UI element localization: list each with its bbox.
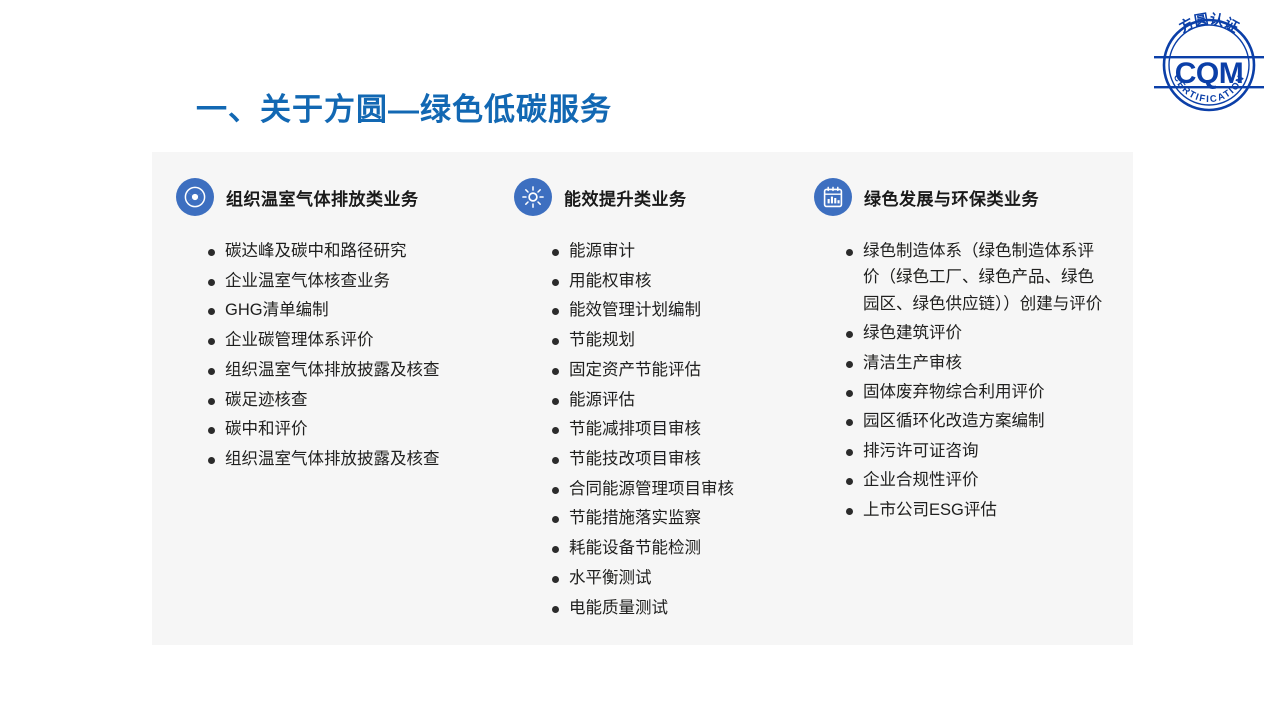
list-item: 企业温室气体核查业务 bbox=[208, 268, 500, 295]
list-item: 电能质量测试 bbox=[552, 595, 800, 622]
service-columns: 组织温室气体排放类业务 碳达峰及碳中和路径研究 企业温室气体核查业务 GHG清单… bbox=[152, 152, 1133, 645]
cqm-logo: 方圆认证 CERTIFICATION CQM bbox=[1150, 6, 1268, 124]
column-header-2: 能效提升类业务 bbox=[514, 178, 800, 216]
list-item: 合同能源管理项目审核 bbox=[552, 476, 800, 503]
slide-root: 方圆认证 CERTIFICATION CQM 一、关于方圆—绿色低碳服务 bbox=[0, 0, 1280, 720]
list-item: 节能规划 bbox=[552, 327, 800, 354]
list-item: 能源审计 bbox=[552, 238, 800, 265]
list-item: 水平衡测试 bbox=[552, 565, 800, 592]
page-title: 一、关于方圆—绿色低碳服务 bbox=[196, 92, 612, 128]
column-title-1: 组织温室气体排放类业务 bbox=[226, 185, 419, 210]
list-item: 绿色制造体系（绿色制造体系评价（绿色工厂、绿色产品、绿色园区、绿色供应链））创建… bbox=[846, 238, 1108, 317]
list-item: 碳中和评价 bbox=[208, 416, 500, 443]
list-item: 碳足迹核查 bbox=[208, 387, 500, 414]
list-item: 园区循环化改造方案编制 bbox=[846, 408, 1108, 434]
service-column-energy-efficiency: 能效提升类业务 能源审计 用能权审核 能效管理计划编制 节能规划 固定资产节能评… bbox=[500, 178, 800, 645]
list-item: 碳达峰及碳中和路径研究 bbox=[208, 238, 500, 265]
column-header-3: 绿色发展与环保类业务 bbox=[814, 178, 1133, 216]
list-item: 企业碳管理体系评价 bbox=[208, 327, 500, 354]
list-item: 绿色建筑评价 bbox=[846, 320, 1108, 346]
service-column-greenhouse-gas: 组织温室气体排放类业务 碳达峰及碳中和路径研究 企业温室气体核查业务 GHG清单… bbox=[152, 178, 500, 645]
list-item: 能效管理计划编制 bbox=[552, 297, 800, 324]
list-item: 固体废弃物综合利用评价 bbox=[846, 379, 1108, 405]
list-item: 排污许可证咨询 bbox=[846, 438, 1108, 464]
list-item: 用能权审核 bbox=[552, 268, 800, 295]
list-item: 能源评估 bbox=[552, 387, 800, 414]
list-item: 耗能设备节能检测 bbox=[552, 535, 800, 562]
sun-icon bbox=[514, 178, 552, 216]
list-item: 节能技改项目审核 bbox=[552, 446, 800, 473]
column-title-2: 能效提升类业务 bbox=[564, 185, 687, 210]
column-title-3: 绿色发展与环保类业务 bbox=[864, 185, 1039, 210]
content-panel: 组织温室气体排放类业务 碳达峰及碳中和路径研究 企业温室气体核查业务 GHG清单… bbox=[152, 152, 1133, 645]
list-item: GHG清单编制 bbox=[208, 297, 500, 324]
list-item: 企业合规性评价 bbox=[846, 467, 1108, 493]
list-item: 节能措施落实监察 bbox=[552, 505, 800, 532]
column-header-1: 组织温室气体排放类业务 bbox=[176, 178, 500, 216]
calendar-chart-icon bbox=[814, 178, 852, 216]
aperture-icon bbox=[176, 178, 214, 216]
service-list-2: 能源审计 用能权审核 能效管理计划编制 节能规划 固定资产节能评估 能源评估 节… bbox=[552, 238, 800, 621]
list-item: 上市公司ESG评估 bbox=[846, 497, 1108, 523]
service-column-green-development: 绿色发展与环保类业务 绿色制造体系（绿色制造体系评价（绿色工厂、绿色产品、绿色园… bbox=[800, 178, 1133, 645]
service-list-1: 碳达峰及碳中和路径研究 企业温室气体核查业务 GHG清单编制 企业碳管理体系评价… bbox=[208, 238, 500, 473]
svg-text:方圆认证: 方圆认证 bbox=[1176, 11, 1241, 36]
list-item: 组织温室气体排放披露及核查 bbox=[208, 357, 500, 384]
list-item: 固定资产节能评估 bbox=[552, 357, 800, 384]
list-item: 组织温室气体排放披露及核查 bbox=[208, 446, 500, 473]
service-list-3: 绿色制造体系（绿色制造体系评价（绿色工厂、绿色产品、绿色园区、绿色供应链））创建… bbox=[846, 238, 1108, 523]
svg-text:CQM: CQM bbox=[1175, 57, 1244, 90]
list-item: 清洁生产审核 bbox=[846, 350, 1108, 376]
list-item: 节能减排项目审核 bbox=[552, 416, 800, 443]
